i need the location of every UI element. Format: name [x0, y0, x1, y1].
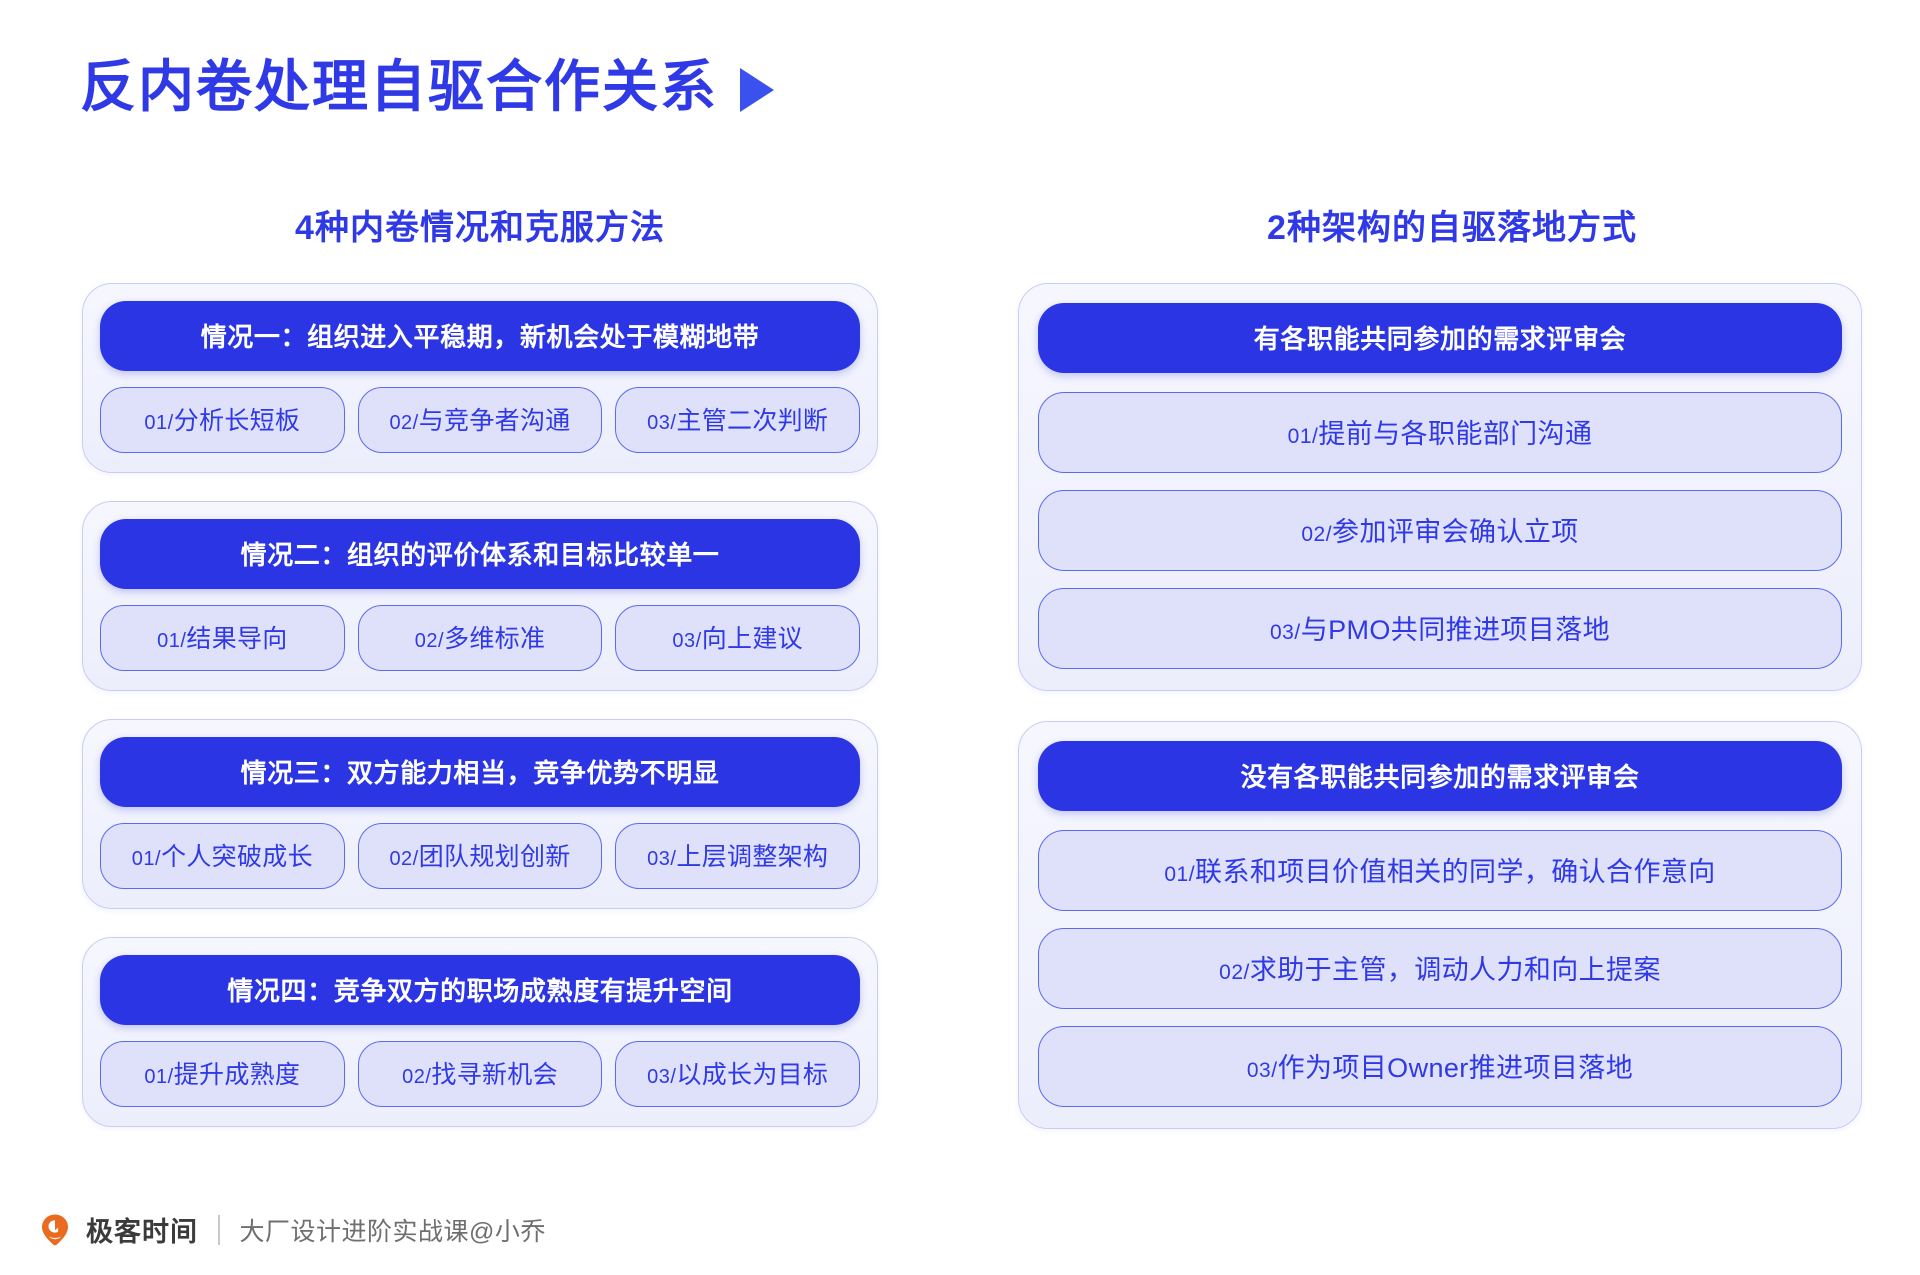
topic-card: 没有各职能共同参加的需求评审会 01/联系和项目价值相关的同学，确认合作意向 0… [1018, 721, 1862, 1129]
chip-item[interactable]: 02/多维标准 [358, 605, 603, 671]
step-index: 02/ [1219, 961, 1250, 984]
chip-index: 01/ [132, 848, 161, 870]
chip-item[interactable]: 02/与竞争者沟通 [358, 387, 603, 453]
topic-card-header: 情况二：组织的评价体系和目标比较单一 [100, 519, 860, 589]
chip-item[interactable]: 03/以成长为目标 [615, 1041, 860, 1107]
chip-label: 团队规划创新 [419, 843, 571, 871]
topic-card: 情况一：组织进入平稳期，新机会处于模糊地带 01/分析长短板 02/与竞争者沟通… [82, 283, 878, 473]
page-title-text: 反内卷处理自驱合作关系 [80, 58, 718, 117]
content-columns: 4种内卷情况和克服方法 情况一：组织进入平稳期，新机会处于模糊地带 01/分析长… [0, 200, 1920, 1159]
step-index: 01/ [1164, 863, 1195, 886]
chip-label: 分析长短板 [174, 407, 301, 435]
chip-index: 03/ [647, 1066, 676, 1088]
topic-card: 有各职能共同参加的需求评审会 01/提前与各职能部门沟通 02/参加评审会确认立… [1018, 283, 1862, 691]
step-label: 求助于主管，调动人力和向上提案 [1250, 955, 1661, 985]
footer-course-text: 大厂设计进阶实战课@小乔 [240, 1212, 546, 1248]
step-index: 02/ [1301, 523, 1332, 546]
topic-card-header: 情况四：竞争双方的职场成熟度有提升空间 [100, 955, 860, 1025]
topic-card: 情况四：竞争双方的职场成熟度有提升空间 01/提升成熟度 02/找寻新机会 03… [82, 937, 878, 1127]
topic-card: 情况二：组织的评价体系和目标比较单一 01/结果导向 02/多维标准 03/向上… [82, 501, 878, 691]
chip-row: 01/分析长短板 02/与竞争者沟通 03/主管二次判断 [100, 387, 860, 453]
chip-label: 找寻新机会 [431, 1061, 558, 1089]
chip-index: 03/ [647, 848, 676, 870]
chip-item[interactable]: 02/找寻新机会 [358, 1041, 603, 1107]
step-index: 03/ [1247, 1059, 1278, 1082]
step-item[interactable]: 01/提前与各职能部门沟通 [1038, 392, 1842, 473]
step-list: 01/联系和项目价值相关的同学，确认合作意向 02/求助于主管，调动人力和向上提… [1038, 830, 1842, 1107]
step-label: 提前与各职能部门沟通 [1318, 419, 1592, 449]
step-item[interactable]: 02/参加评审会确认立项 [1038, 490, 1842, 571]
chip-index: 01/ [144, 412, 173, 434]
chip-index: 02/ [389, 848, 418, 870]
chip-item[interactable]: 01/分析长短板 [100, 387, 345, 453]
chip-item[interactable]: 03/上层调整架构 [615, 823, 860, 889]
topic-card-header: 有各职能共同参加的需求评审会 [1038, 303, 1842, 373]
geekbang-pin-logo-icon [36, 1211, 74, 1249]
left-column: 4种内卷情况和克服方法 情况一：组织进入平稳期，新机会处于模糊地带 01/分析长… [0, 200, 960, 1159]
chip-row: 01/结果导向 02/多维标准 03/向上建议 [100, 605, 860, 671]
step-item[interactable]: 03/与PMO共同推进项目落地 [1038, 588, 1842, 669]
chip-row: 01/提升成熟度 02/找寻新机会 03/以成长为目标 [100, 1041, 860, 1107]
chip-row: 01/个人突破成长 02/团队规划创新 03/上层调整架构 [100, 823, 860, 889]
chip-label: 主管二次判断 [676, 407, 828, 435]
footer: 极客时间 大厂设计进阶实战课@小乔 [36, 1210, 546, 1249]
chip-label: 与竞争者沟通 [419, 407, 571, 435]
chip-label: 以成长为目标 [676, 1061, 828, 1089]
right-column-heading: 2种架构的自驱落地方式 [1042, 200, 1862, 249]
chip-index: 02/ [389, 412, 418, 434]
footer-divider [218, 1215, 220, 1245]
step-label: 作为项目Owner推进项目落地 [1278, 1053, 1634, 1083]
chip-index: 01/ [144, 1066, 173, 1088]
step-label: 与PMO共同推进项目落地 [1301, 615, 1610, 645]
chip-index: 03/ [647, 412, 676, 434]
right-column: 2种架构的自驱落地方式 有各职能共同参加的需求评审会 01/提前与各职能部门沟通… [960, 200, 1920, 1159]
chip-item[interactable]: 03/主管二次判断 [615, 387, 860, 453]
chip-label: 多维标准 [444, 625, 545, 653]
chip-item[interactable]: 03/向上建议 [615, 605, 860, 671]
step-index: 03/ [1270, 621, 1301, 644]
topic-card: 情况三：双方能力相当，竞争优势不明显 01/个人突破成长 02/团队规划创新 0… [82, 719, 878, 909]
step-list: 01/提前与各职能部门沟通 02/参加评审会确认立项 03/与PMO共同推进项目… [1038, 392, 1842, 669]
chip-item[interactable]: 01/提升成熟度 [100, 1041, 345, 1107]
left-column-heading: 4种内卷情况和克服方法 [82, 200, 878, 249]
chip-label: 上层调整架构 [676, 843, 828, 871]
step-item[interactable]: 03/作为项目Owner推进项目落地 [1038, 1026, 1842, 1107]
step-item[interactable]: 01/联系和项目价值相关的同学，确认合作意向 [1038, 830, 1842, 911]
chip-label: 向上建议 [702, 625, 803, 653]
chip-item[interactable]: 02/团队规划创新 [358, 823, 603, 889]
brand-name: 极客时间 [86, 1210, 198, 1249]
chip-index: 03/ [672, 630, 701, 652]
chip-label: 个人突破成长 [161, 843, 313, 871]
chip-index: 02/ [415, 630, 444, 652]
chip-item[interactable]: 01/个人突破成长 [100, 823, 345, 889]
slide-root: 反内卷处理自驱合作关系 4种内卷情况和克服方法 情况一：组织进入平稳期，新机会处… [0, 0, 1920, 1275]
play-triangle-icon [740, 68, 774, 112]
step-label: 参加评审会确认立项 [1332, 517, 1579, 547]
topic-card-header: 情况一：组织进入平稳期，新机会处于模糊地带 [100, 301, 860, 371]
chip-label: 结果导向 [186, 625, 287, 653]
chip-index: 01/ [157, 630, 186, 652]
chip-item[interactable]: 01/结果导向 [100, 605, 345, 671]
chip-label: 提升成熟度 [174, 1061, 301, 1089]
page-title: 反内卷处理自驱合作关系 [80, 58, 774, 117]
step-label: 联系和项目价值相关的同学，确认合作意向 [1195, 857, 1716, 887]
step-item[interactable]: 02/求助于主管，调动人力和向上提案 [1038, 928, 1842, 1009]
chip-index: 02/ [402, 1066, 431, 1088]
step-index: 01/ [1288, 425, 1319, 448]
topic-card-header: 没有各职能共同参加的需求评审会 [1038, 741, 1842, 811]
topic-card-header: 情况三：双方能力相当，竞争优势不明显 [100, 737, 860, 807]
